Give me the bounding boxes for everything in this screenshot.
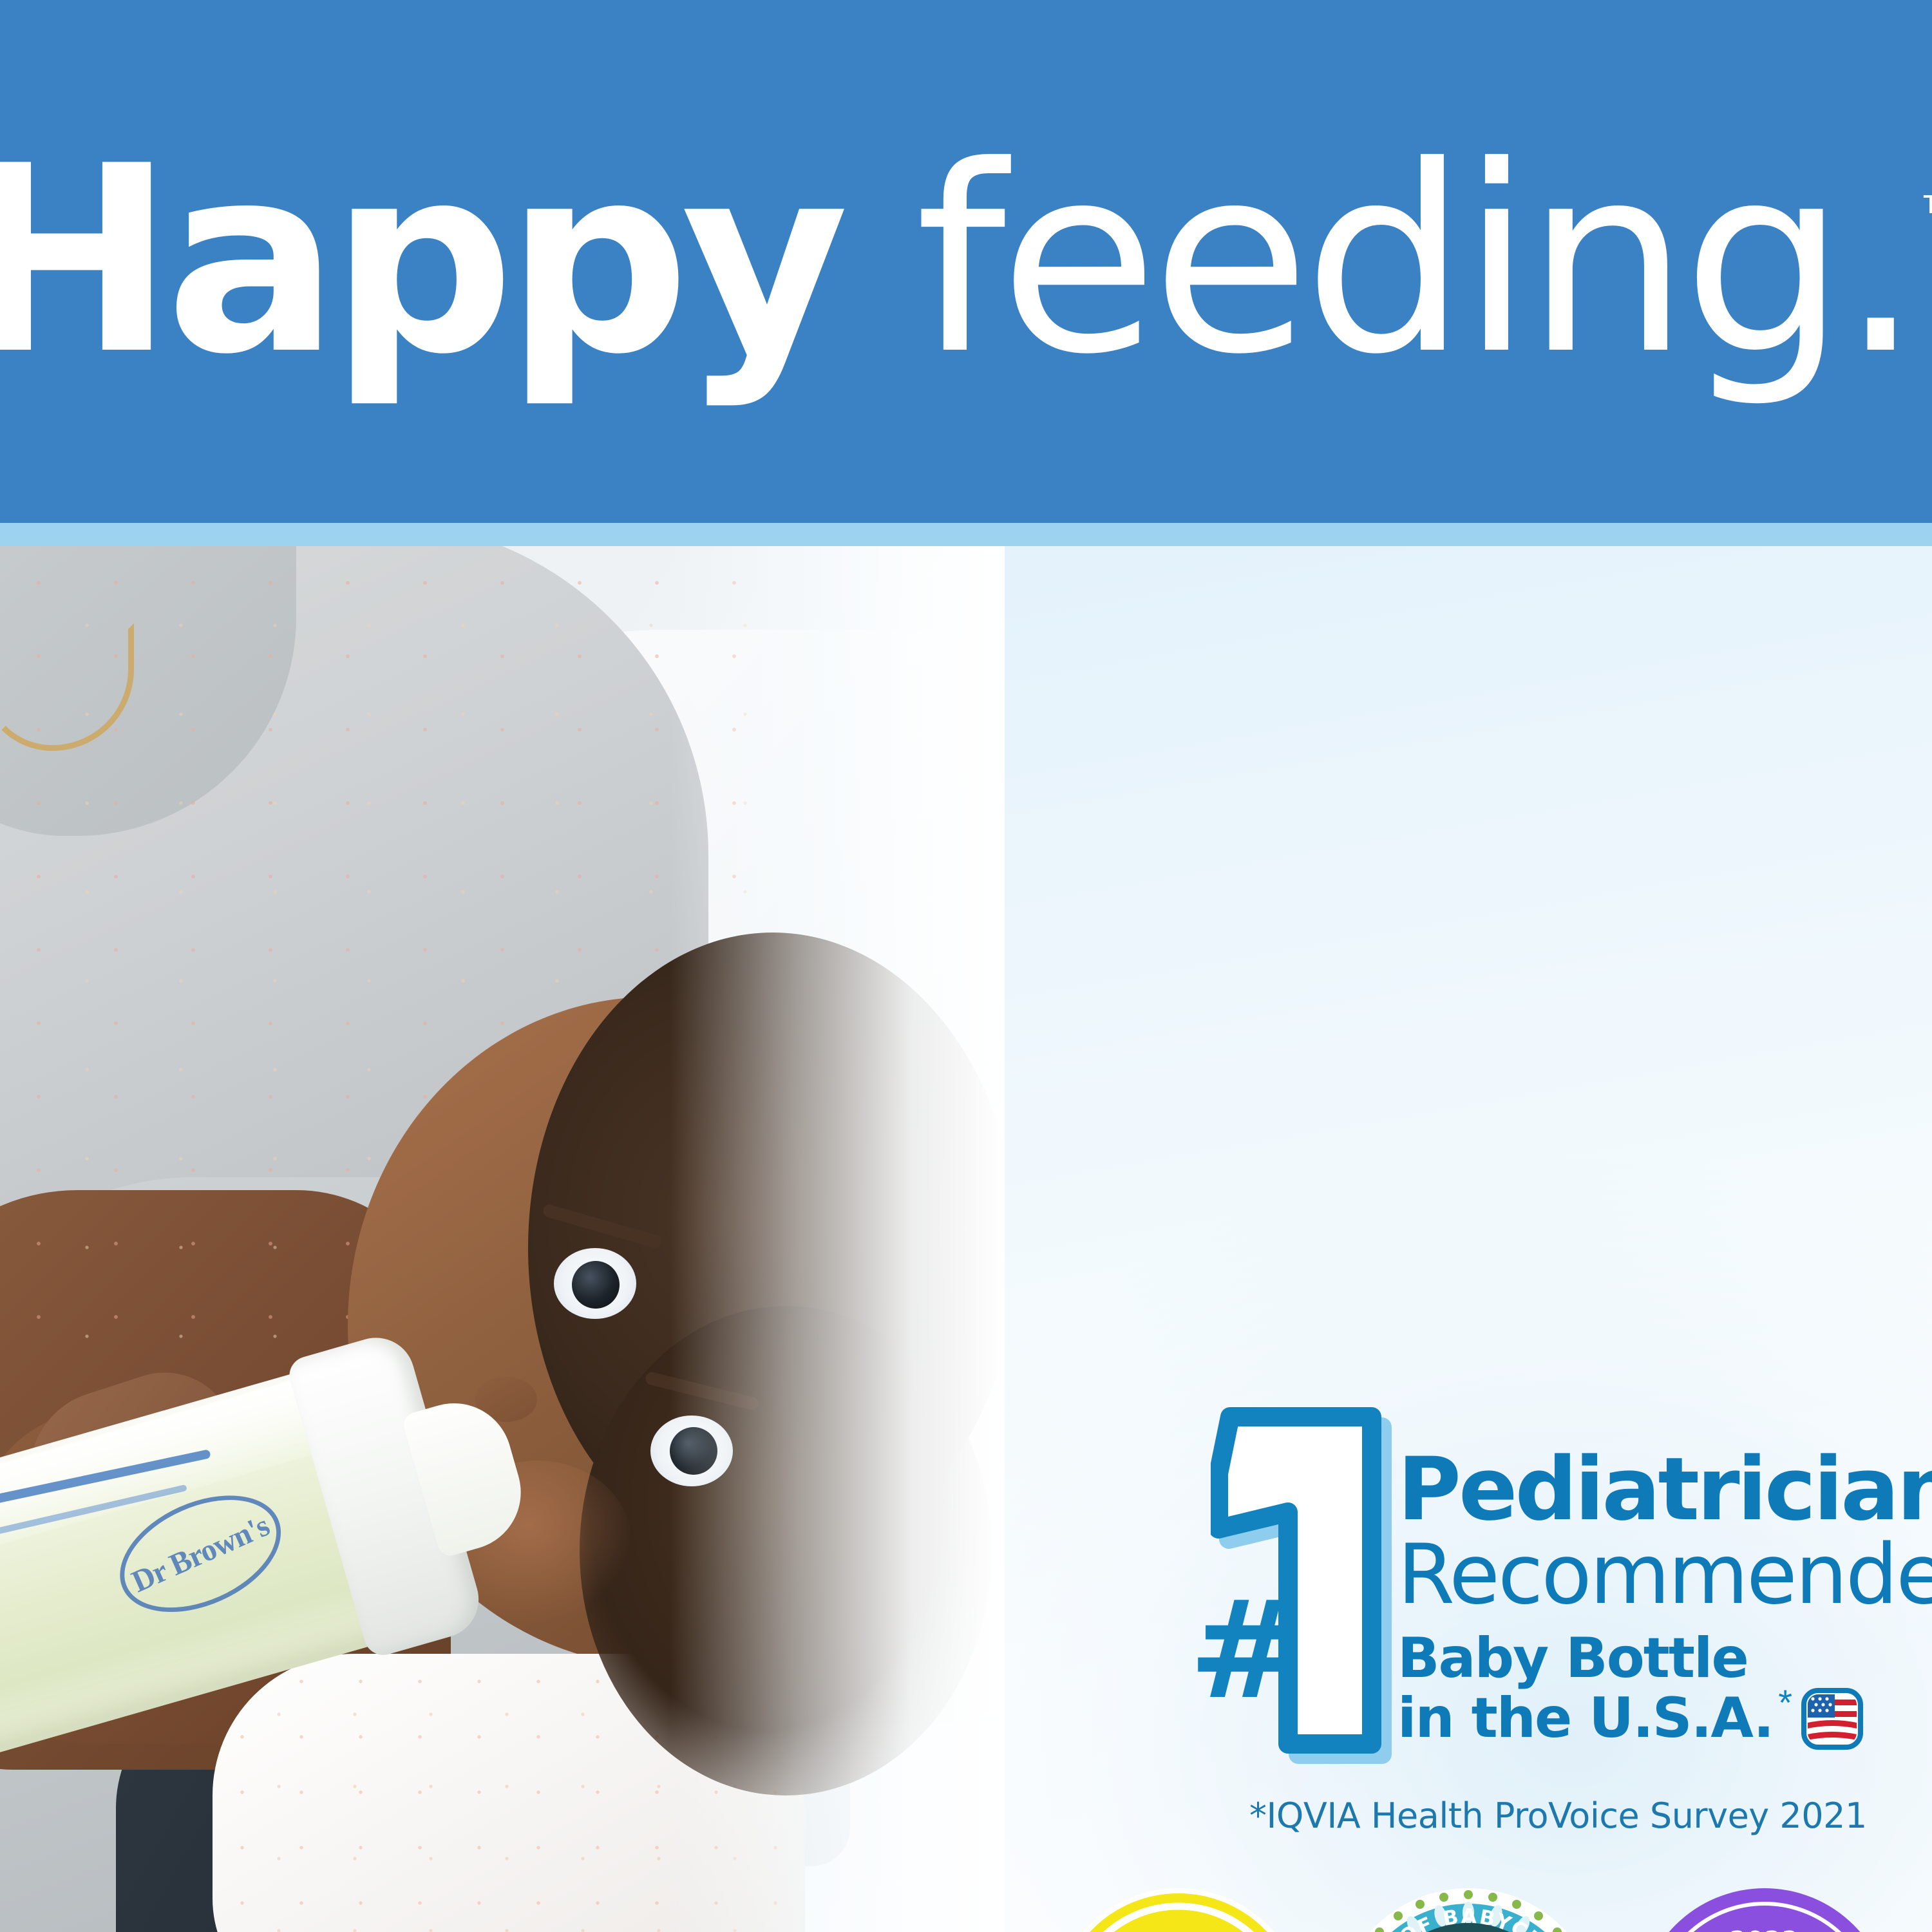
- claim-line-recommended: Recommended: [1397, 1534, 1861, 1616]
- photo-baby-pupil: [572, 1261, 620, 1309]
- badge-what-to-expect-feeding: 2022 what to expect. Feeding Awards: [1636, 1886, 1893, 1932]
- headline-light-word: feeding.: [840, 111, 1915, 411]
- claim-line-baby-bottle: Baby Bottle: [1397, 1631, 1861, 1687]
- svg-text:2022: 2022: [1730, 1927, 1799, 1932]
- lifestyle-photo: Dr Brown's: [0, 546, 1005, 1932]
- product-marketing-poster: Happy feeding. ™: [0, 0, 1932, 1932]
- claim-asterisk: *: [1778, 1681, 1792, 1723]
- pediatrician-claim-text: Pediatrician Recommended Baby Bottle in …: [1397, 1448, 1861, 1750]
- claim-line-usa-row: in the U.S.A. *: [1397, 1688, 1861, 1750]
- pediatrician-claim-lockup: # Pediatrician Recommended Baby Bottle i…: [1211, 1383, 1855, 1821]
- award-badges: Parents. BEST FOR BABY AWARDS – 2022 –: [1050, 1886, 1906, 1932]
- us-flag-icon: [1801, 1688, 1863, 1750]
- photo-baby-pupil: [670, 1427, 717, 1475]
- photo-baby-hair: [580, 1306, 992, 1795]
- claim-line-pediatrician: Pediatrician: [1397, 1448, 1861, 1531]
- content-area: Dr Brown's # Pediatric: [0, 546, 1932, 1932]
- headline-inner: Happy feeding. ™: [0, 133, 1932, 390]
- header-banner: Happy feeding. ™: [0, 0, 1932, 523]
- headline-bold-word: Happy: [0, 111, 840, 411]
- claim-footnote: *IQVIA Health ProVoice Survey 2021: [1249, 1795, 1867, 1836]
- trademark-symbol: ™: [1919, 188, 1932, 236]
- badge-parents-best-for-baby: Parents. BEST FOR BABY AWARDS – 2022 –: [1050, 1886, 1307, 1932]
- claim-line-usa: in the U.S.A.: [1397, 1690, 1773, 1747]
- headline: Happy feeding. ™: [0, 0, 1932, 523]
- badge-best-of-babycenter: BEST OF BABYCENTER AWARD WINNER babycent…: [1333, 1886, 1604, 1932]
- header-divider: [0, 523, 1932, 546]
- hash-symbol: #: [1189, 1583, 1302, 1718]
